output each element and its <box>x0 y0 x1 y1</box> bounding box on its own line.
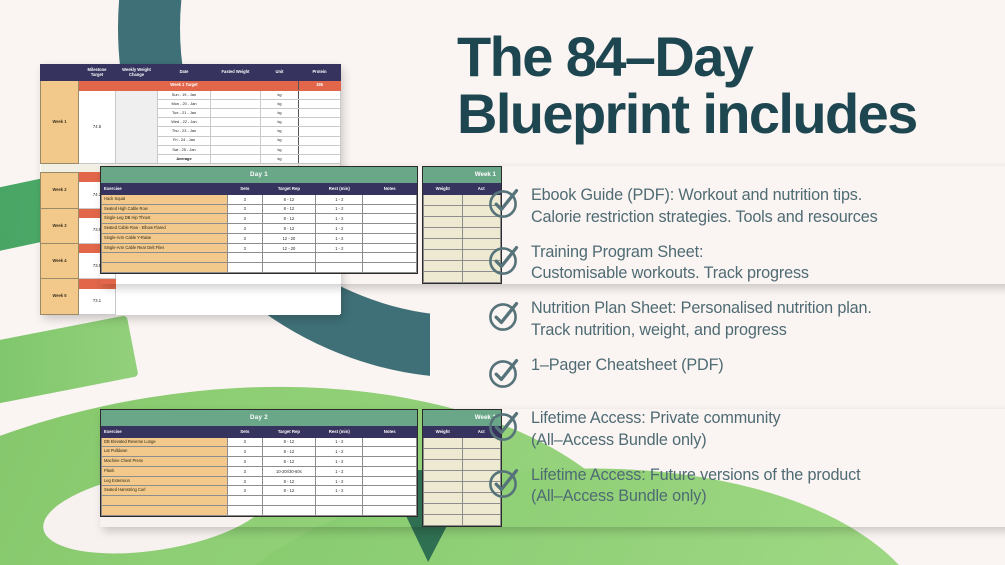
protein-cell[interactable] <box>299 108 341 117</box>
table-row[interactable]: Seated High Cable Row38 - 121 - 2 <box>102 204 417 214</box>
exercise-cell[interactable]: Seated High Cable Row <box>102 204 228 214</box>
table-row[interactable] <box>102 253 417 263</box>
protein-cell[interactable] <box>299 90 341 99</box>
table-row[interactable]: DB Elevated Reverse Lunge38 - 121 - 2 <box>102 437 417 447</box>
target-rep-cell[interactable]: 8 - 12 <box>262 224 316 234</box>
unit-cell: kg <box>261 118 299 127</box>
target-fasted-cell[interactable] <box>211 81 261 90</box>
date-cell: Wed - 22 - Jan <box>158 118 211 127</box>
col-notes: Notes <box>363 184 417 195</box>
protein-cell[interactable] <box>299 136 341 145</box>
notes-cell[interactable] <box>363 253 417 263</box>
target-rep-cell[interactable]: 12 - 20 <box>262 243 316 253</box>
col-exercise: Exercise <box>102 426 228 437</box>
check-circle-icon <box>487 299 521 333</box>
notes-cell[interactable] <box>363 204 417 214</box>
feature-text: Lifetime Access: Future versions of the … <box>531 465 860 508</box>
sets-cell[interactable]: 3 <box>228 466 263 476</box>
rest-cell[interactable]: 1 - 2 <box>316 224 363 234</box>
rest-cell[interactable] <box>316 496 363 506</box>
target-rep-cell[interactable]: 8 - 12 <box>262 447 316 457</box>
target-rep-cell[interactable]: 8 - 12 <box>262 476 316 486</box>
exercise-cell[interactable]: Plank <box>102 466 228 476</box>
sets-cell[interactable]: 3 <box>228 194 263 204</box>
feature-text: Lifetime Access: Private community(All–A… <box>531 408 781 451</box>
list-item[interactable]: Ebook Guide (PDF): Workout and nutrition… <box>487 185 997 228</box>
week-label-cell: Week 1 <box>41 81 79 164</box>
exercise-cell[interactable] <box>102 506 228 516</box>
day-2-title: Day 2 <box>101 410 417 426</box>
sets-cell[interactable]: 3 <box>228 233 263 243</box>
rest-cell[interactable] <box>316 253 363 263</box>
col-target-rep: Target Rep <box>262 426 316 437</box>
feature-text: Ebook Guide (PDF): Workout and nutrition… <box>531 185 878 228</box>
day-2-table: Exercise Sets Target Rep Rest (min) Note… <box>101 426 417 516</box>
check-circle-icon <box>487 299 521 338</box>
milestone-target-strip <box>79 81 116 90</box>
sets-cell[interactable] <box>228 253 263 263</box>
check-circle-icon <box>487 409 521 443</box>
rest-cell[interactable]: 1 - 2 <box>316 233 363 243</box>
target-rep-cell[interactable]: 8 - 12 <box>262 457 316 467</box>
protein-cell[interactable] <box>299 145 341 154</box>
nutrition-col-week <box>41 65 79 81</box>
feature-line-1: Lifetime Access: Private community <box>531 409 781 427</box>
feature-line-1: Training Program Sheet: <box>531 243 703 261</box>
list-item[interactable]: Training Program Sheet:Customisable work… <box>487 242 997 285</box>
col-rest: Rest (min) <box>316 426 363 437</box>
feature-line-2: Customisable workouts. Track progress <box>531 263 809 285</box>
date-cell: Thu - 23 - Jan <box>158 127 211 136</box>
sets-cell[interactable]: 3 <box>228 204 263 214</box>
check-circle-icon <box>487 409 521 448</box>
headline-line-1: The 84–Day <box>457 28 917 85</box>
notes-cell[interactable] <box>363 457 417 467</box>
nutrition-col-milestone: Milestone Target <box>79 65 116 81</box>
col-exercise: Exercise <box>102 184 228 195</box>
feature-line-2: Track nutrition, weight, and progress <box>531 320 872 342</box>
feature-list: Ebook Guide (PDF): Workout and nutrition… <box>487 185 997 521</box>
average-label-cell: Average <box>158 154 211 163</box>
target-rep-cell[interactable] <box>262 263 316 273</box>
sets-cell[interactable]: 3 <box>228 486 263 496</box>
feature-text: 1–Pager Cheatsheet (PDF) <box>531 355 724 377</box>
table-row[interactable] <box>102 506 417 516</box>
notes-cell[interactable] <box>363 243 417 253</box>
rest-cell[interactable]: 1 - 2 <box>316 204 363 214</box>
sets-cell[interactable]: 3 <box>228 437 263 447</box>
feature-line-1: Lifetime Access: Future versions of the … <box>531 466 860 484</box>
col-target-rep: Target Rep <box>262 184 316 195</box>
col-sets: Sets <box>228 184 263 195</box>
fasted-weight-cell[interactable] <box>211 99 261 108</box>
feature-text: Training Program Sheet:Customisable work… <box>531 242 809 285</box>
target-protein-cell[interactable]: 155 <box>299 81 341 90</box>
exercise-cell[interactable]: Single-Leg DB Hip Thrust <box>102 214 228 224</box>
rest-cell[interactable]: 1 - 2 <box>316 437 363 447</box>
day-1-table-body: Hack Squat38 - 121 - 2Seated High Cable … <box>102 194 417 272</box>
fasted-weight-cell[interactable] <box>211 127 261 136</box>
unit-cell: kg <box>261 127 299 136</box>
milestone-value-cell[interactable]: 73.1 <box>79 288 116 314</box>
table-row[interactable]: Plank310-20r/30-60s1 - 2 <box>102 466 417 476</box>
average-unit-cell: kg <box>261 154 299 163</box>
unit-cell: kg <box>261 136 299 145</box>
fasted-weight-cell[interactable] <box>211 118 261 127</box>
unit-cell: kg <box>261 145 299 154</box>
check-circle-icon <box>487 243 521 277</box>
milestone-label-line2: Target <box>91 72 103 77</box>
sets-cell[interactable] <box>228 496 263 506</box>
table-row[interactable]: Lat Pulldown38 - 121 - 2 <box>102 447 417 457</box>
table-row[interactable]: Leg Extension38 - 121 - 2 <box>102 476 417 486</box>
notes-cell[interactable] <box>363 496 417 506</box>
table-row[interactable]: Seated Hamstring Curl38 - 121 - 2 <box>102 486 417 496</box>
table-row[interactable] <box>102 496 417 506</box>
exercise-cell[interactable]: Seated Hamstring Curl <box>102 486 228 496</box>
rest-cell[interactable]: 1 - 2 <box>316 243 363 253</box>
table-row[interactable]: 73.1 <box>41 288 341 314</box>
sets-cell[interactable]: 3 <box>228 447 263 457</box>
notes-cell[interactable] <box>363 263 417 273</box>
list-item[interactable]: 1–Pager Cheatsheet (PDF) <box>487 355 997 395</box>
check-circle-icon <box>487 466 521 505</box>
sets-cell[interactable]: 3 <box>228 214 263 224</box>
day-1-title: Day 1 <box>101 167 417 183</box>
average-protein-cell <box>299 154 341 163</box>
protein-cell[interactable] <box>299 99 341 108</box>
check-circle-icon <box>487 466 521 500</box>
target-rep-cell[interactable] <box>262 506 316 516</box>
day-1-sheet[interactable]: Day 1 Exercise Sets Target Rep Rest (min… <box>100 166 418 274</box>
date-cell: Fri - 24 - Jan <box>158 136 211 145</box>
exercise-cell[interactable]: Lat Pulldown <box>102 447 228 457</box>
nutrition-col-protein: Protein <box>299 65 341 81</box>
week-label-cell: Week 4 <box>41 244 79 279</box>
date-cell: Sat - 25 - Jan <box>158 145 211 154</box>
page-title: The 84–Day Blueprint includes <box>457 28 917 142</box>
table-row[interactable]: Seated Cable Row - Elbow Flared38 - 121 … <box>102 224 417 234</box>
check-circle-icon <box>487 243 521 282</box>
fasted-weight-cell[interactable] <box>211 90 261 99</box>
fasted-weight-cell[interactable] <box>211 108 261 117</box>
rest-cell[interactable]: 1 - 2 <box>316 476 363 486</box>
exercise-cell[interactable]: Seated Cable Row - Elbow Flared <box>102 224 228 234</box>
rest-cell[interactable] <box>316 263 363 273</box>
week-target-label: Week 1 Target <box>158 81 211 90</box>
target-rep-cell[interactable]: 8 - 12 <box>262 214 316 224</box>
check-circle-icon <box>487 186 521 220</box>
protein-cell[interactable] <box>299 118 341 127</box>
target-rep-cell[interactable]: 10-20r/30-60s <box>262 466 316 476</box>
rest-cell[interactable]: 1 - 2 <box>316 457 363 467</box>
day-2-table-body: DB Elevated Reverse Lunge38 - 121 - 2Lat… <box>102 437 417 515</box>
check-circle-icon <box>487 356 521 395</box>
table-row[interactable]: 74.6Sun - 19 - Jankg <box>41 90 341 99</box>
table-row[interactable]: Single-Arm Cable Y-Raise312 - 201 - 2 <box>102 233 417 243</box>
date-cell: Tue - 21 - Jan <box>158 108 211 117</box>
fasted-weight-cell[interactable] <box>211 136 261 145</box>
notes-cell[interactable] <box>363 214 417 224</box>
feature-line-2: (All–Access Bundle only) <box>531 430 781 452</box>
exercise-cell[interactable] <box>102 496 228 506</box>
sets-cell[interactable] <box>228 506 263 516</box>
date-cell: Sun - 19 - Jan <box>158 90 211 99</box>
milestone-value-cell[interactable]: 74.6 <box>79 90 116 164</box>
nutrition-header-row: Milestone Target Weekly Weight Change Da… <box>41 65 341 81</box>
day-1-header-row: Exercise Sets Target Rep Rest (min) Note… <box>102 184 417 195</box>
notes-cell[interactable] <box>363 476 417 486</box>
col-rest: Rest (min) <box>316 184 363 195</box>
sets-cell[interactable]: 3 <box>228 224 263 234</box>
week-label-cell: Week 5 <box>41 279 79 314</box>
notes-cell[interactable] <box>363 233 417 243</box>
notes-cell[interactable] <box>363 486 417 496</box>
notes-cell[interactable] <box>363 506 417 516</box>
average-fasted-cell <box>211 154 261 163</box>
table-row[interactable]: Single-Arm Cable Rear Delt Flies312 - 20… <box>102 243 417 253</box>
feature-line-2: (All–Access Bundle only) <box>531 486 860 508</box>
target-rep-cell[interactable]: 8 - 12 <box>262 437 316 447</box>
weekly-change-cell[interactable] <box>116 90 158 164</box>
feature-line-1: Ebook Guide (PDF): Workout and nutrition… <box>531 186 862 204</box>
rest-cell[interactable]: 1 - 2 <box>316 214 363 224</box>
exercise-cell[interactable]: Single-Arm Cable Y-Raise <box>102 233 228 243</box>
week-label-cell: Week 2 <box>41 173 79 208</box>
exercise-cell[interactable]: Hack Squat <box>102 194 228 204</box>
day-2-sheet[interactable]: Day 2 Exercise Sets Target Rep Rest (min… <box>100 409 418 517</box>
rest-cell[interactable]: 1 - 2 <box>316 486 363 496</box>
date-cell: Mon - 20 - Jan <box>158 99 211 108</box>
rest-cell[interactable]: 1 - 2 <box>316 466 363 476</box>
notes-cell[interactable] <box>363 224 417 234</box>
headline-line-2: Blueprint includes <box>457 85 917 142</box>
nutrition-col-weekly-change: Weekly Weight Change <box>116 65 158 81</box>
feature-text: Nutrition Plan Sheet: Personalised nutri… <box>531 298 872 341</box>
target-rep-cell[interactable]: 8 - 12 <box>262 486 316 496</box>
exercise-cell[interactable] <box>102 253 228 263</box>
change-label-line2: Change <box>129 72 144 77</box>
protein-cell[interactable] <box>299 127 341 136</box>
target-unit-cell[interactable] <box>261 81 299 90</box>
check-circle-icon <box>487 186 521 225</box>
target-rep-cell[interactable]: 8 - 12 <box>262 194 316 204</box>
list-item[interactable]: Lifetime Access: Future versions of the … <box>487 465 997 508</box>
exercise-cell[interactable]: Machine Chest Press <box>102 457 228 467</box>
list-item[interactable]: Nutrition Plan Sheet: Personalised nutri… <box>487 298 997 341</box>
exercise-cell[interactable]: DB Elevated Reverse Lunge <box>102 437 228 447</box>
exercise-cell[interactable]: Single-Arm Cable Rear Delt Flies <box>102 243 228 253</box>
table-row[interactable]: Machine Chest Press38 - 121 - 2 <box>102 457 417 467</box>
feature-line-2: Calorie restriction strategies. Tools an… <box>531 207 878 229</box>
notes-cell[interactable] <box>363 447 417 457</box>
sets-cell[interactable] <box>228 263 263 273</box>
day-1-table: Exercise Sets Target Rep Rest (min) Note… <box>101 183 417 273</box>
week-label-cell: Week 3 <box>41 208 79 243</box>
table-row[interactable]: Week 1Week 1 Target155 <box>41 81 341 90</box>
target-rep-cell[interactable] <box>262 253 316 263</box>
col-sets: Sets <box>228 426 263 437</box>
feature-line-1: 1–Pager Cheatsheet (PDF) <box>531 356 724 374</box>
unit-cell: kg <box>261 90 299 99</box>
check-circle-icon <box>487 356 521 390</box>
sets-cell[interactable]: 3 <box>228 476 263 486</box>
exercise-cell[interactable]: Leg Extension <box>102 476 228 486</box>
sets-cell[interactable]: 3 <box>228 457 263 467</box>
notes-cell[interactable] <box>363 466 417 476</box>
rest-cell[interactable]: 1 - 2 <box>316 194 363 204</box>
target-rep-cell[interactable] <box>262 496 316 506</box>
table-row[interactable] <box>102 263 417 273</box>
target-rep-cell[interactable]: 12 - 20 <box>262 233 316 243</box>
rest-cell[interactable] <box>316 506 363 516</box>
weekly-change-strip <box>116 81 158 90</box>
unit-cell: kg <box>261 108 299 117</box>
sets-cell[interactable]: 3 <box>228 243 263 253</box>
table-row[interactable]: Single-Leg DB Hip Thrust38 - 121 - 2 <box>102 214 417 224</box>
rest-cell[interactable]: 1 - 2 <box>316 447 363 457</box>
notes-cell[interactable] <box>363 194 417 204</box>
day-2-header-row: Exercise Sets Target Rep Rest (min) Note… <box>102 426 417 437</box>
unit-cell: kg <box>261 99 299 108</box>
list-item[interactable]: Lifetime Access: Private community(All–A… <box>487 408 997 451</box>
nutrition-col-unit: Unit <box>261 65 299 81</box>
nutrition-col-date: Date <box>158 65 211 81</box>
content-column: The 84–Day Blueprint includes Ebook Guid… <box>455 0 1005 565</box>
col-notes: Notes <box>363 426 417 437</box>
fasted-weight-cell[interactable] <box>211 145 261 154</box>
table-row[interactable]: Hack Squat38 - 121 - 2 <box>102 194 417 204</box>
target-rep-cell[interactable]: 8 - 12 <box>262 204 316 214</box>
exercise-cell[interactable] <box>102 263 228 273</box>
feature-line-1: Nutrition Plan Sheet: Personalised nutri… <box>531 299 872 317</box>
promo-slide: Milestone Target Weekly Weight Change Da… <box>0 0 1005 565</box>
nutrition-col-fasted-weight: Fasted Weight <box>211 65 261 81</box>
notes-cell[interactable] <box>363 437 417 447</box>
